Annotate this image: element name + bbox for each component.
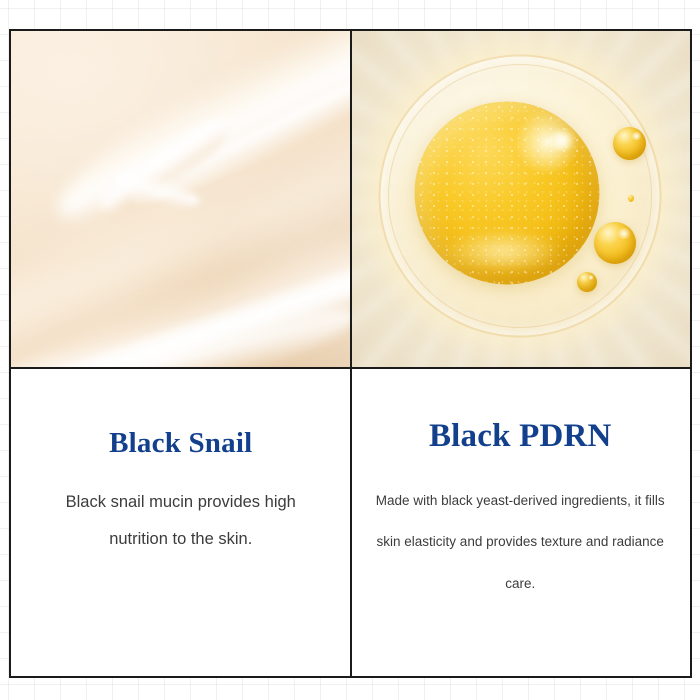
golden-oil-droplet-image <box>351 31 691 368</box>
black-pdrn-image-cell <box>351 31 691 368</box>
ingredient-card: Black Snail Black snail mucin provides h… <box>9 29 692 678</box>
black-snail-image-cell <box>11 31 351 368</box>
black-pdrn-description: Made with black yeast-derived ingredient… <box>367 480 675 604</box>
golden-core-droplet <box>414 101 599 284</box>
ingredient-comparison-page: Black Snail Black snail mucin provides h… <box>0 0 700 700</box>
satellite-droplet-1 <box>613 127 646 160</box>
black-pdrn-title: Black PDRN <box>429 418 612 454</box>
black-pdrn-text-cell: Black PDRN Made with black yeast-derived… <box>351 368 691 676</box>
black-snail-title: Black Snail <box>109 428 252 460</box>
satellite-droplet-4 <box>628 195 634 202</box>
black-snail-description: Black snail mucin provides high nutritio… <box>35 484 327 558</box>
core-base-glow <box>444 229 564 273</box>
black-snail-text-cell: Black Snail Black snail mucin provides h… <box>11 368 351 676</box>
satellite-droplet-3 <box>577 272 597 292</box>
satellite-droplet-2 <box>594 222 636 264</box>
cream-swirl-texture-image <box>11 31 351 368</box>
